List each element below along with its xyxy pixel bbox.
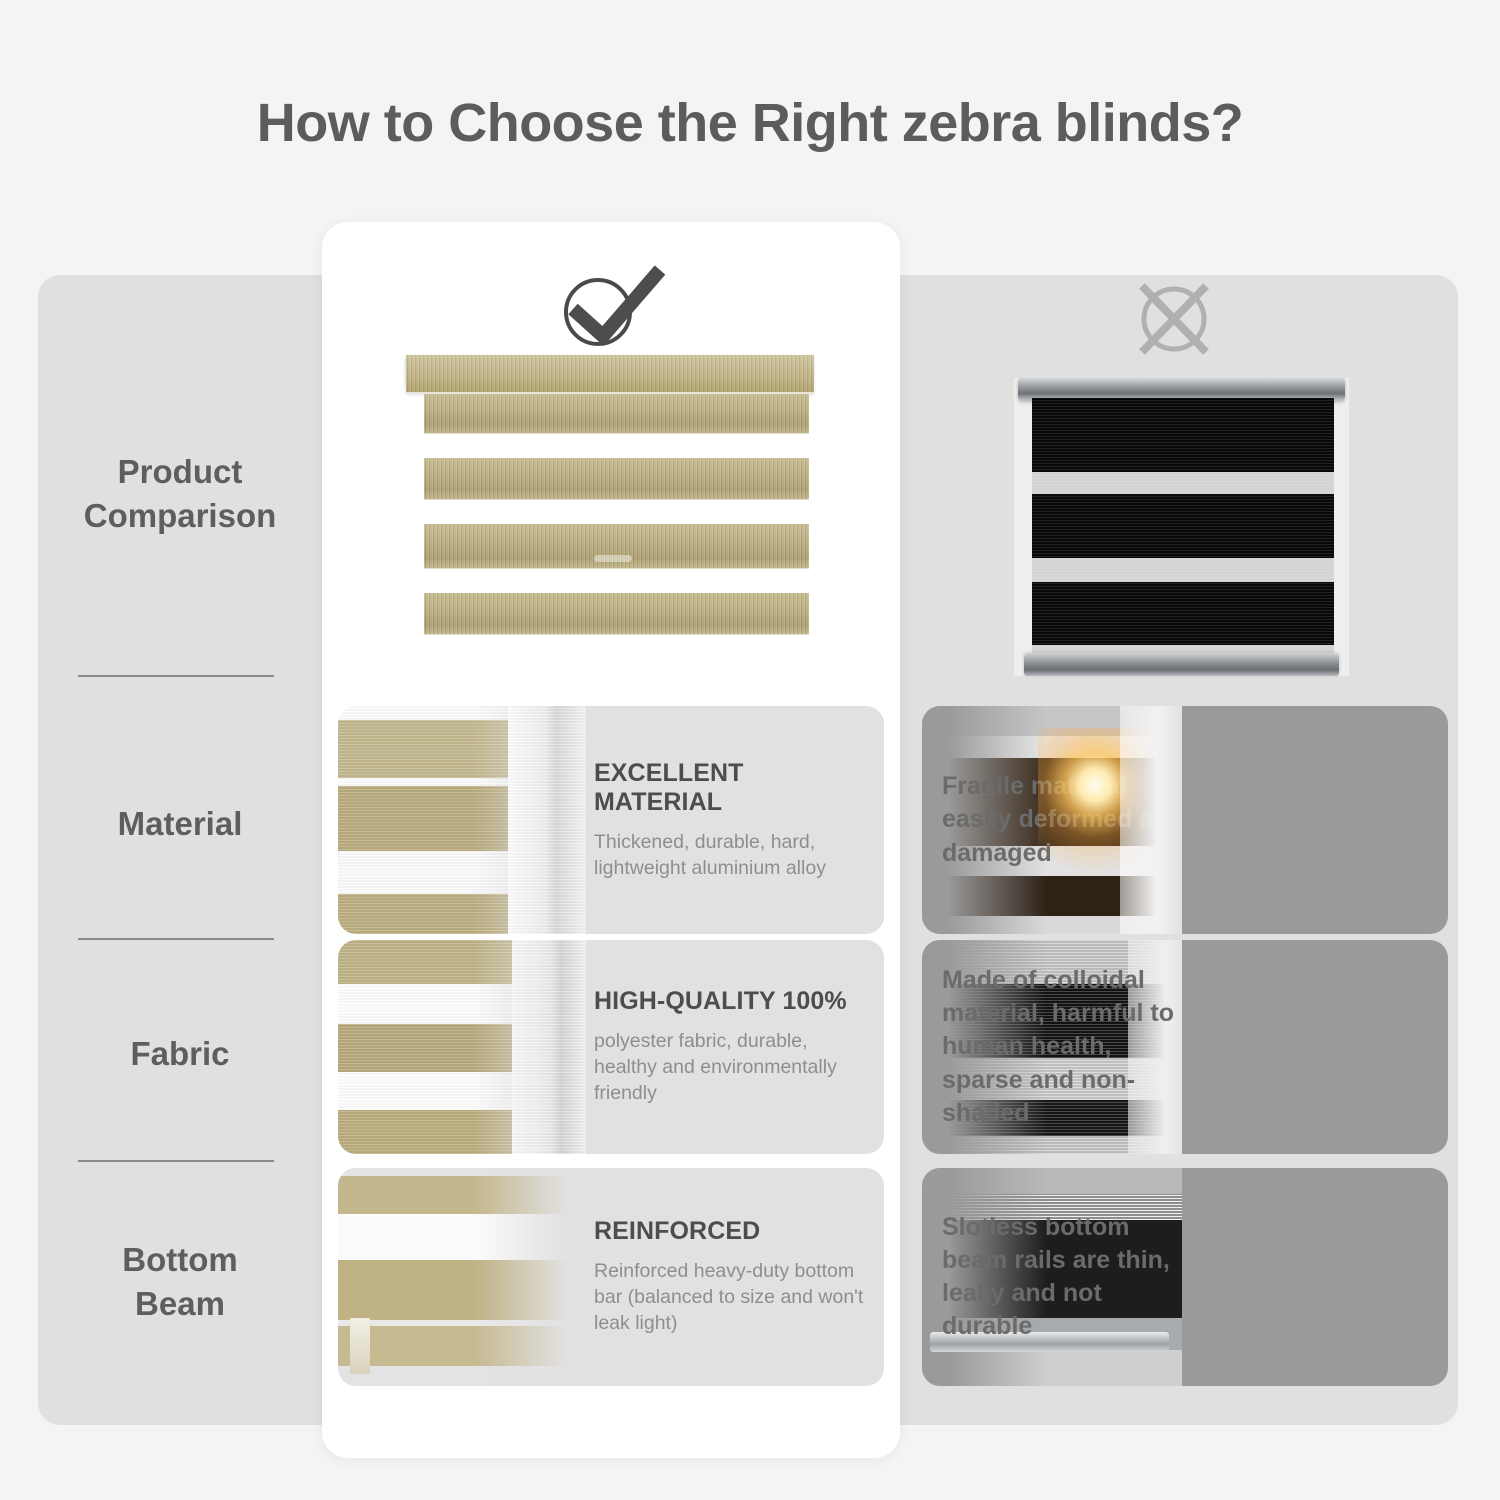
row-label-bottom-beam: Bottom Beam [38,1238,322,1325]
row-divider-3 [78,1160,274,1162]
cross-circle-icon [1128,278,1220,358]
good-feature-material: EXCELLENT MATERIAL Thickened, durable, h… [338,706,884,934]
page-title: How to Choose the Right zebra blinds? [0,92,1500,154]
good-bottom-beam-text: REINFORCED Reinforced heavy-duty bottom … [586,1168,884,1386]
image-fade [338,706,586,934]
row-label-column: Product Comparison Material Fabric Botto… [38,275,322,1425]
row-label-line2: Beam [135,1285,225,1322]
feature-heading: EXCELLENT MATERIAL [594,759,870,817]
feature-body: Slotless bottom beam rails are thin, lea… [942,1211,1188,1344]
feature-body: Thickened, durable, hard, lightweight al… [594,830,870,882]
blind-bottom-bar [1024,654,1339,676]
good-material-text: EXCELLENT MATERIAL Thickened, durable, h… [586,706,884,934]
blind-slat [424,593,809,635]
blind-headrail [406,355,814,393]
feature-body: Reinforced heavy-duty bottom bar (balanc… [594,1259,870,1337]
good-fabric-text: HIGH-QUALITY 100% polyester fabric, dura… [586,940,884,1154]
bad-hero-blind-image [1014,378,1349,676]
good-feature-bottom-beam: REINFORCED Reinforced heavy-duty bottom … [338,1168,884,1386]
row-label-line1: Bottom [122,1241,237,1278]
good-material-image [338,706,586,934]
good-bottom-beam-image [338,1168,586,1386]
row-label-line1: Material [118,805,243,842]
bad-feature-fabric: Made of colloidal material, harmful to h… [922,940,1448,1154]
row-label-product-comparison: Product Comparison [38,450,322,537]
good-fabric-image [338,940,586,1154]
bad-fabric-text: Made of colloidal material, harmful to h… [922,940,1202,1154]
feature-heading: HIGH-QUALITY 100% [594,987,870,1016]
row-label-fabric: Fabric [38,1032,322,1076]
row-label-line2: Comparison [84,497,277,534]
bad-bottom-beam-text: Slotless bottom beam rails are thin, lea… [922,1168,1202,1386]
feature-body: polyester fabric, durable, healthy and e… [594,1029,870,1107]
blind-headrail [1018,378,1345,400]
feature-heading: REINFORCED [594,1217,870,1246]
row-label-material: Material [38,802,322,846]
row-divider-2 [78,938,274,940]
good-hero-blind-image [406,355,814,700]
check-circle-icon [548,262,668,352]
row-label-line1: Product [118,453,243,490]
image-fade [338,940,586,1154]
bad-feature-bottom-beam: Slotless bottom beam rails are thin, lea… [922,1168,1448,1386]
blind-slat [424,394,809,434]
image-fade [338,1168,586,1386]
blind-slat [424,458,809,500]
row-label-line1: Fabric [130,1035,229,1072]
blind-slat [424,524,809,569]
blind-fabric [1032,398,1334,653]
feature-body: Made of colloidal material, harmful to h… [942,964,1188,1130]
bad-feature-material: Fragile material easily deformed and dam… [922,706,1448,934]
good-feature-fabric: HIGH-QUALITY 100% polyester fabric, dura… [338,940,884,1154]
row-divider-1 [78,675,274,677]
